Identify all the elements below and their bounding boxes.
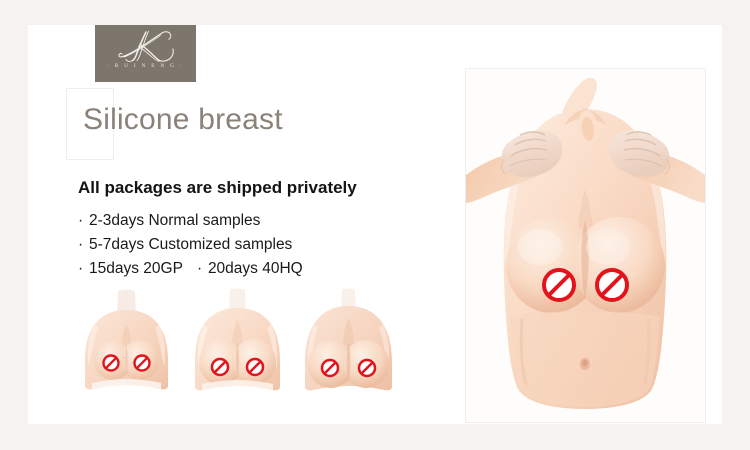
bullet-icon: ·: [78, 233, 89, 257]
list-item-label: 5-7days Customized samples: [89, 236, 292, 253]
list-item-label: 15days 20GP: [89, 260, 183, 277]
lead-time-list: ·2-3days Normal samples ·5-7days Customi…: [78, 209, 303, 281]
bullet-icon: ·: [78, 257, 89, 281]
left-column: Silicone breast All packages are shipped…: [28, 25, 438, 424]
silicone-breast-form-large[interactable]: [300, 288, 397, 398]
censor-badge-icon: [544, 270, 574, 300]
list-item: ·2-3days Normal samples: [78, 209, 303, 233]
list-item: ·15days 20GP·20days 40HQ: [78, 257, 303, 281]
censor-badge-icon: [322, 360, 338, 376]
bullet-icon: ·: [197, 257, 208, 281]
censor-badge-icon: [104, 356, 119, 371]
censor-badge-icon: [135, 356, 150, 371]
product-thumbnail-row: [78, 283, 398, 398]
censor-badge-icon: [359, 360, 375, 376]
bullet-icon: ·: [78, 209, 89, 233]
shipping-privacy-subtitle: All packages are shipped privately: [78, 178, 357, 198]
silicone-breast-form-medium[interactable]: [189, 288, 286, 398]
list-item-label: 2-3days Normal samples: [89, 212, 260, 229]
list-item: ·5-7days Customized samples: [78, 233, 303, 257]
silicone-bodysuit-hero-photo[interactable]: [465, 68, 706, 423]
content-card: · R U I N E N G · Silicone breast All pa…: [28, 25, 722, 424]
page-root: · R U I N E N G · Silicone breast All pa…: [0, 0, 750, 450]
list-item-label-secondary: 20days 40HQ: [208, 260, 303, 277]
page-title: Silicone breast: [83, 103, 283, 137]
censor-badge-icon: [597, 270, 627, 300]
silicone-breast-form-small[interactable]: [78, 288, 175, 398]
censor-badge-icon: [247, 359, 263, 375]
censor-badge-icon: [212, 359, 228, 375]
